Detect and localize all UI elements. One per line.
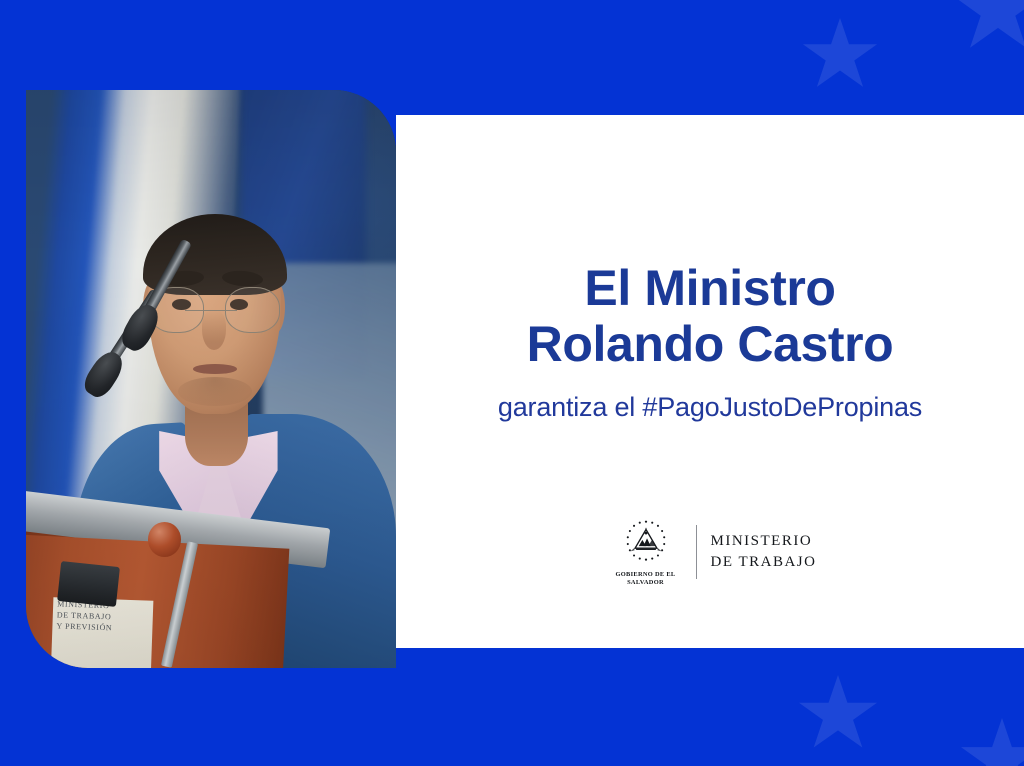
nose (202, 310, 226, 350)
government-logo-lockup: GOBIERNO DE EL SALVADOR MINISTERIO DE TR… (396, 517, 1024, 588)
ministry-name-line-2: DE TRABAJO (711, 552, 817, 573)
star-icon (952, 0, 1024, 54)
page-subtitle: garantiza el #PagoJustoDePropinas (396, 392, 1024, 423)
logo-divider (696, 525, 697, 579)
ministry-name-line-1: MINISTERIO (711, 531, 817, 552)
poster-canvas: MINISTERIO DE TRABAJO Y PREVISIÓN El Min… (0, 0, 1024, 766)
headline-line-2: Rolando Castro (396, 316, 1024, 372)
microphone-base (57, 561, 120, 607)
star-icon (960, 718, 1024, 766)
podium-plaque: MINISTERIO DE TRABAJO Y PREVISIÓN (51, 597, 154, 668)
minister-photo: MINISTERIO DE TRABAJO Y PREVISIÓN (26, 90, 396, 668)
text-block: El Ministro Rolando Castro garantiza el … (396, 260, 1024, 423)
emblem-caption: GOBIERNO DE EL SALVADOR (604, 571, 688, 588)
ministry-name: MINISTERIO DE TRABAJO (711, 531, 817, 574)
mouth (193, 364, 237, 374)
star-icon (802, 18, 878, 92)
emblem-group: GOBIERNO DE EL SALVADOR (604, 517, 688, 588)
headline-line-1: El Ministro (396, 260, 1024, 316)
emblem-caption-line-1: GOBIERNO DE (616, 571, 665, 578)
page-title: El Ministro Rolando Castro (396, 260, 1024, 372)
chin-shadow (178, 377, 252, 406)
star-icon (798, 675, 878, 753)
el-salvador-coat-of-arms-icon (620, 517, 672, 569)
